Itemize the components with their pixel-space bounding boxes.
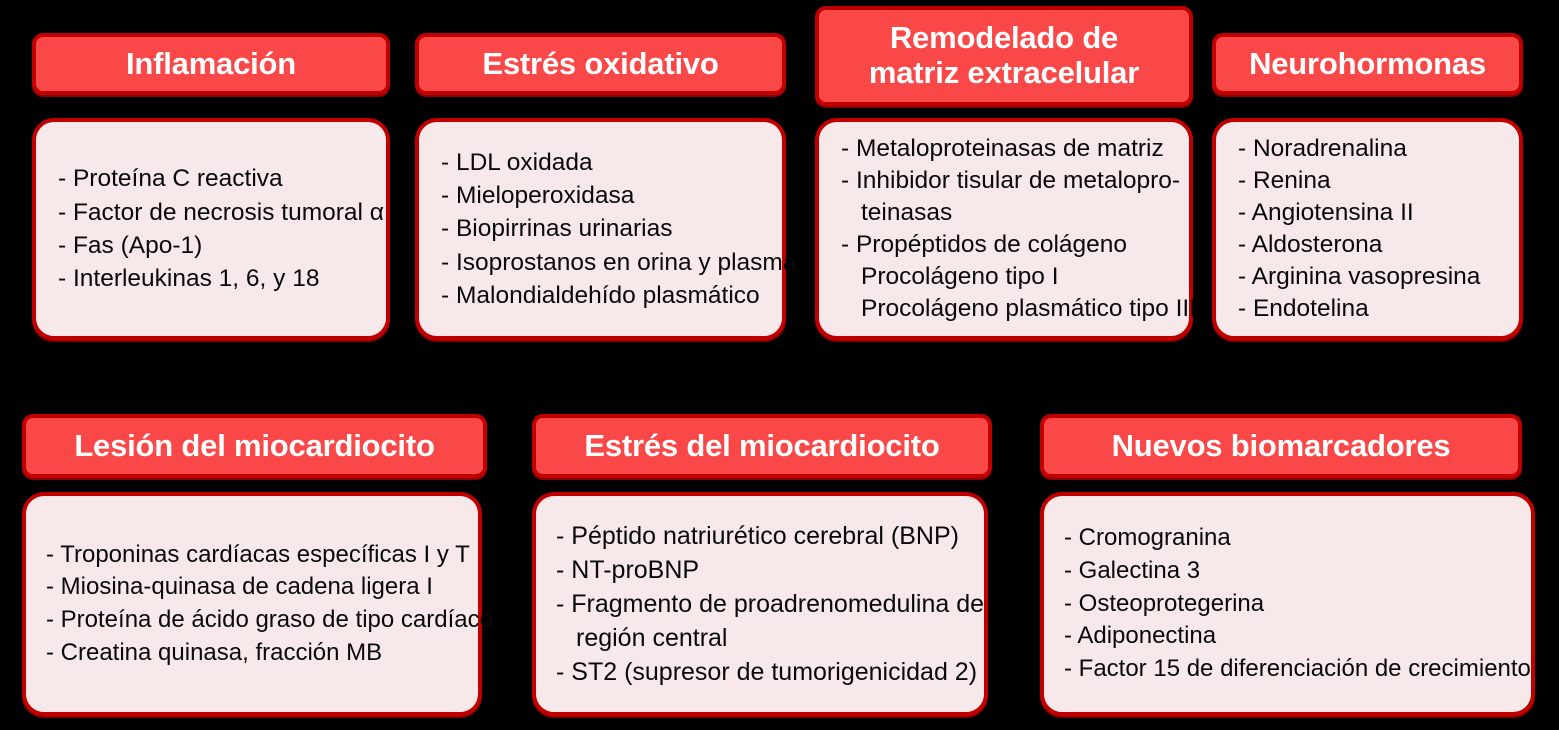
list-item: - Malondialdehído plasmático — [441, 279, 782, 312]
list-item: - Angiotensina II — [1238, 197, 1519, 229]
category-title: Estrés oxidativo — [482, 47, 718, 82]
biomarker-list: - Cromogranina - Galectina 3 - Osteoprot… — [1044, 522, 1531, 685]
category-title: Remodelado de matriz extracelular — [869, 21, 1139, 90]
category-body-lesion-miocardiocito: - Troponinas cardíacas específicas I y T… — [22, 492, 482, 716]
list-item: - Creatina quinasa, fracción MB — [46, 637, 478, 670]
list-item: - Isoprostanos en orina y plasma — [441, 246, 782, 279]
list-item: - Noradrenalina — [1238, 133, 1519, 165]
list-item: - Adiponectina — [1064, 620, 1531, 653]
category-title-line2: matriz extracelular — [869, 55, 1139, 90]
category-body-estres-oxidativo: - LDL oxidada - Mieloperoxidasa - Biopir… — [415, 118, 786, 340]
list-item: - Aldosterona — [1238, 229, 1519, 261]
category-body-nuevos-biomarcadores: - Cromogranina - Galectina 3 - Osteoprot… — [1040, 492, 1535, 716]
list-item: - Metaloproteinasas de matriz — [841, 133, 1189, 165]
list-item: Procolágeno tipo I — [841, 261, 1189, 293]
category-body-neurohormonas: - Noradrenalina - Renina - Angiotensina … — [1212, 118, 1523, 340]
category-header-neurohormonas: Neurohormonas — [1212, 33, 1523, 95]
biomarker-list: - Péptido natriurético cerebral (BNP) - … — [536, 519, 984, 689]
category-header-lesion-miocardiocito: Lesión del miocardiocito — [22, 414, 487, 478]
category-title-line1: Remodelado de — [890, 20, 1118, 55]
category-title: Inflamación — [126, 47, 296, 82]
category-header-nuevos-biomarcadores: Nuevos biomarcadores — [1040, 414, 1522, 478]
category-header-estres-miocardiocito: Estrés del miocardiocito — [532, 414, 992, 478]
list-item: - Proteína C reactiva — [58, 162, 386, 195]
list-item: - Miosina-quinasa de cadena ligera I — [46, 571, 478, 604]
list-item: - Galectina 3 — [1064, 555, 1531, 588]
category-header-estres-oxidativo: Estrés oxidativo — [415, 33, 786, 95]
biomarker-list: - Proteína C reactiva - Factor de necros… — [36, 162, 386, 295]
category-body-estres-miocardiocito: - Péptido natriurético cerebral (BNP) - … — [532, 492, 988, 716]
list-item: - NT-proBNP — [556, 553, 984, 587]
biomarker-list: - Troponinas cardíacas específicas I y T… — [26, 539, 478, 670]
category-body-inflamacion: - Proteína C reactiva - Factor de necros… — [32, 118, 390, 340]
biomarker-list: - Noradrenalina - Renina - Angiotensina … — [1216, 133, 1519, 324]
list-item: - ST2 (supresor de tumorigenicidad 2) — [556, 655, 984, 689]
list-item: - Cromogranina — [1064, 522, 1531, 555]
list-item: - Renina — [1238, 165, 1519, 197]
list-item: - Fas (Apo-1) — [58, 229, 386, 262]
category-body-remodelado-matriz: - Metaloproteinasas de matriz - Inhibido… — [815, 118, 1193, 340]
list-item: región central — [556, 621, 984, 655]
list-item: - LDL oxidada — [441, 146, 782, 179]
list-item: Procolágeno plasmático tipo III — [841, 293, 1189, 325]
list-item: - Troponinas cardíacas específicas I y T — [46, 539, 478, 572]
biomarker-diagram: Inflamación - Proteína C reactiva - Fact… — [0, 0, 1559, 730]
list-item: - Endotelina — [1238, 293, 1519, 325]
list-item: - Péptido natriurético cerebral (BNP) — [556, 519, 984, 553]
category-title: Estrés del miocardiocito — [584, 429, 939, 464]
list-item: - Interleukinas 1, 6, y 18 — [58, 262, 386, 295]
list-item: - Propéptidos de colágeno — [841, 229, 1189, 261]
biomarker-list: - Metaloproteinasas de matriz - Inhibido… — [819, 133, 1189, 324]
list-item: - Fragmento de proadrenomedulina de — [556, 587, 984, 621]
category-header-remodelado-matriz: Remodelado de matriz extracelular — [815, 6, 1193, 106]
category-header-inflamacion: Inflamación — [32, 33, 390, 95]
list-item: - Osteoprotegerina — [1064, 588, 1531, 621]
list-item: - Biopirrinas urinarias — [441, 212, 782, 245]
category-title: Neurohormonas — [1249, 47, 1486, 82]
list-item: - Proteína de ácido graso de tipo cardía… — [46, 604, 478, 637]
list-item: - Factor 15 de diferenciación de crecimi… — [1064, 653, 1531, 686]
list-item: teinasas — [841, 197, 1189, 229]
category-title: Lesión del miocardiocito — [74, 429, 434, 464]
biomarker-list: - LDL oxidada - Mieloperoxidasa - Biopir… — [419, 146, 782, 313]
list-item: - Factor de necrosis tumoral α — [58, 196, 386, 229]
list-item: - Inhibidor tisular de metalopro- — [841, 165, 1189, 197]
category-title: Nuevos biomarcadores — [1112, 429, 1451, 464]
list-item: - Mieloperoxidasa — [441, 179, 782, 212]
list-item: - Arginina vasopresina — [1238, 261, 1519, 293]
